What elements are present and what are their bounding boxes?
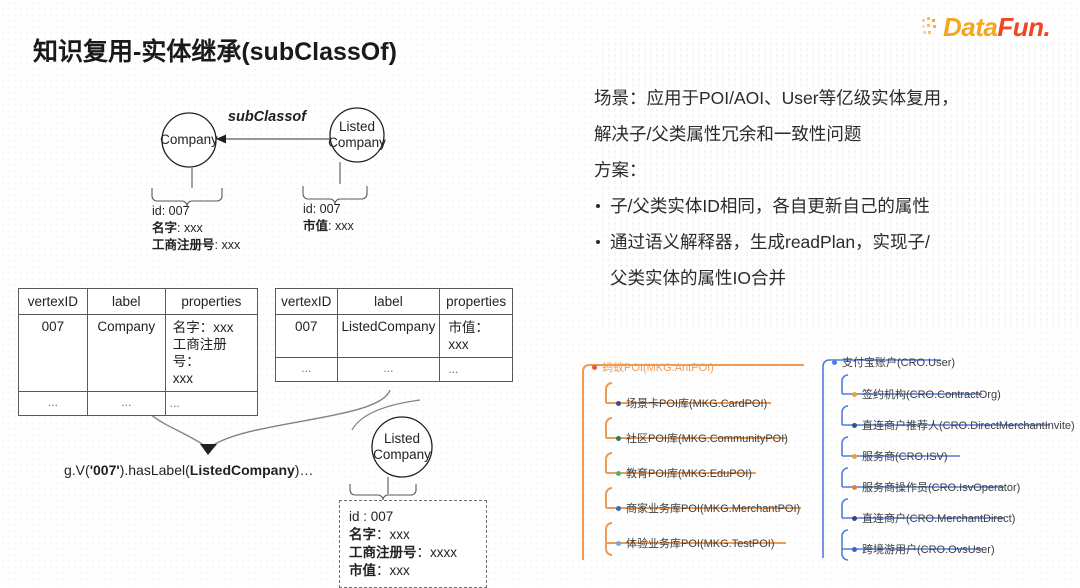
slide-root: DataFun. 知识复用-实体继承(subClassOf) Company L… xyxy=(0,0,1080,585)
parent-prop-reg: 工商注册号: xxx xyxy=(152,237,240,254)
tree-node-card-poi[interactable]: 场景卡POI库(MKG.CardPOI) xyxy=(616,395,767,411)
tree-node-test-poi[interactable]: 体验业务库POI(MKG.TestPOI) xyxy=(616,535,775,551)
tree-node-contract-org[interactable]: 签约机构(CRO.ContractOrg) xyxy=(852,386,1001,402)
tree-node-edu-poi[interactable]: 教育POI库(MKG.EduPOI) xyxy=(616,465,752,481)
query-arrowhead xyxy=(200,444,217,455)
description-bullet-2: 通过语义解释器，生成readPlan，实现子/ xyxy=(594,224,1064,260)
graph-node-company-label: Company xyxy=(160,132,218,147)
th-vertexid: vertexID xyxy=(276,289,338,315)
bullet-dot-icon xyxy=(852,485,857,490)
datafun-logo: DataFun. xyxy=(922,12,1050,42)
th-label: label xyxy=(337,289,440,315)
query-label: ListedCompany xyxy=(190,462,295,478)
tree-cro-user: 支付宝账户(CRO.User) 签约机构(CRO.ContractOrg) 直连… xyxy=(818,358,1080,563)
child-prop-value: 市值: xxx xyxy=(303,218,354,235)
bullet-dot-icon xyxy=(616,436,621,441)
result-prop-value: 市值：xxx xyxy=(349,562,477,580)
tree-node-direct-merchant-invite[interactable]: 直连商户推荐人(CRO.DirectMerchantInvite) xyxy=(852,417,1075,433)
tree-node-label: 体验业务库POI(MKG.TestPOI) xyxy=(626,535,775,551)
tree-node-label: 直连商户(CRO.MerchantDirect) xyxy=(862,510,1015,526)
tree-ant-poi: 蚂蚁POI(MKG.AntPOI) 场景卡POI库(MKG.CardPOI) 社… xyxy=(578,363,838,563)
result-properties-box: id : 007 名字：xxx 工商注册号：xxxx 市值：xxx xyxy=(339,500,487,588)
cell-properties: 名字：xxx工商注册号：xxx xyxy=(165,315,257,392)
description-bullet-1: 子/父类实体ID相同，各自更新自己的属性 xyxy=(594,188,1064,224)
logo-text-data: Data xyxy=(943,12,997,42)
tree-node-merchant-poi[interactable]: 商家业务库POI(MKG.MerchantPOI) xyxy=(616,500,800,516)
table-header-row: vertexID label properties xyxy=(19,289,258,315)
cell-label: ListedCompany xyxy=(337,315,440,358)
tree-node-label: 支付宝账户(CRO.User) xyxy=(842,354,955,370)
table-header-row: vertexID label properties xyxy=(276,289,513,315)
tree-node-label: 直连商户推荐人(CRO.DirectMerchantInvite) xyxy=(862,417,1075,433)
datafun-dots-icon xyxy=(922,16,942,38)
cell-vertexid: ... xyxy=(19,392,88,416)
tree-node-community-poi[interactable]: 社区POI库(MKG.CommunityPOI) xyxy=(616,430,788,446)
cell-label: Company xyxy=(87,315,165,392)
tree-node-label: 商家业务库POI(MKG.MerchantPOI) xyxy=(626,500,800,516)
description-line-3: 方案： xyxy=(594,152,1064,188)
bullet-dot-icon xyxy=(852,392,857,397)
child-prop-id: id: 007 xyxy=(303,201,354,218)
vertex-table-listed-company: vertexID label properties 007 ListedComp… xyxy=(275,288,513,382)
cell-label: ... xyxy=(87,392,165,416)
gremlin-query: g.V('007').hasLabel(ListedCompany)… xyxy=(64,462,313,478)
cell-vertexid: 007 xyxy=(276,315,338,358)
tree-node-label: 场景卡POI库(MKG.CardPOI) xyxy=(626,395,767,411)
cell-vertexid: 007 xyxy=(19,315,88,392)
query-prefix: g.V( xyxy=(64,462,90,478)
cell-properties: 市值：xxx xyxy=(440,315,513,358)
vertex-table-company: vertexID label properties 007 Company 名字… xyxy=(18,288,258,416)
tree-node-label: 教育POI库(MKG.EduPOI) xyxy=(626,465,752,481)
description-line-2: 解决子/父类属性冗余和一致性问题 xyxy=(594,116,1064,152)
table-row: ... ... ... xyxy=(276,358,513,382)
graph-edge-label: subClassof xyxy=(228,109,308,125)
bullet-dot-icon xyxy=(616,506,621,511)
cell-vertexid: ... xyxy=(276,358,338,382)
brace-result xyxy=(350,484,416,500)
table-row: 007 Company 名字：xxx工商注册号：xxx xyxy=(19,315,258,392)
query-suffix: )… xyxy=(295,462,314,478)
description-line-1: 场景：应用于POI/AOI、User等亿级实体复用， xyxy=(594,80,1064,116)
cell-properties: ... xyxy=(165,392,257,416)
tree-node-root[interactable]: 支付宝账户(CRO.User) xyxy=(832,354,955,370)
table-row: ... ... ... xyxy=(19,392,258,416)
logo-text-fun: Fun. xyxy=(997,12,1050,42)
graph-node-listed-label-line1: Listed xyxy=(339,119,375,134)
result-prop-reg: 工商注册号：xxxx xyxy=(349,544,477,562)
query-id: '007' xyxy=(90,462,120,478)
result-node-label-line1: Listed xyxy=(384,431,420,446)
tree-node-label: 签约机构(CRO.ContractOrg) xyxy=(862,386,1001,402)
tree-node-isv[interactable]: 服务商(CRO.ISV) xyxy=(852,448,948,464)
tree-node-label: 跨境游用户(CRO.OvsUser) xyxy=(862,541,995,557)
th-properties: properties xyxy=(440,289,513,315)
tree-node-merchant-direct[interactable]: 直连商户(CRO.MerchantDirect) xyxy=(852,510,1015,526)
query-mid: ).hasLabel( xyxy=(120,462,190,478)
bullet-dot-icon xyxy=(616,471,621,476)
graph-node-listed-label-line2: Company xyxy=(328,135,386,150)
th-properties: properties xyxy=(165,289,257,315)
description-bullet-2-continuation: 父类实体的属性IO合并 xyxy=(594,260,1064,296)
parent-prop-name: 名字: xxx xyxy=(152,220,240,237)
description-block: 场景：应用于POI/AOI、User等亿级实体复用， 解决子/父类属性冗余和一致… xyxy=(594,80,1064,296)
tree-node-label: 社区POI库(MKG.CommunityPOI) xyxy=(626,430,788,446)
bullet-dot-icon xyxy=(852,516,857,521)
th-vertexid: vertexID xyxy=(19,289,88,315)
bullet-dot-icon xyxy=(852,423,857,428)
cell-label: ... xyxy=(337,358,440,382)
tree-node-label: 蚂蚁POI(MKG.AntPOI) xyxy=(602,359,714,375)
bullet-dot-icon xyxy=(592,365,597,370)
child-properties-list: id: 007 市值: xxx xyxy=(303,201,354,235)
table-row: 007 ListedCompany 市值：xxx xyxy=(276,315,513,358)
tree-node-label: 服务商(CRO.ISV) xyxy=(862,448,948,464)
parent-prop-id: id: 007 xyxy=(152,203,240,220)
bullet-dot-icon xyxy=(616,541,621,546)
bullet-dot-icon xyxy=(852,454,857,459)
result-node-label-line2: Company xyxy=(373,447,431,462)
bullet-dot-icon xyxy=(616,401,621,406)
result-prop-name: 名字：xxx xyxy=(349,526,477,544)
bullet-dot-icon xyxy=(832,360,837,365)
bullet-dot-icon xyxy=(852,547,857,552)
tree-node-label: 服务商操作员(CRO.IsvOperator) xyxy=(862,479,1020,495)
tree-node-isv-operator[interactable]: 服务商操作员(CRO.IsvOperator) xyxy=(852,479,1020,495)
tree-node-ovs-user[interactable]: 跨境游用户(CRO.OvsUser) xyxy=(852,541,995,557)
th-label: label xyxy=(87,289,165,315)
tree-node-root[interactable]: 蚂蚁POI(MKG.AntPOI) xyxy=(592,359,714,375)
parent-properties-list: id: 007 名字: xxx 工商注册号: xxx xyxy=(152,203,240,254)
result-prop-id: id : 007 xyxy=(349,508,477,526)
cell-properties: ... xyxy=(440,358,513,382)
